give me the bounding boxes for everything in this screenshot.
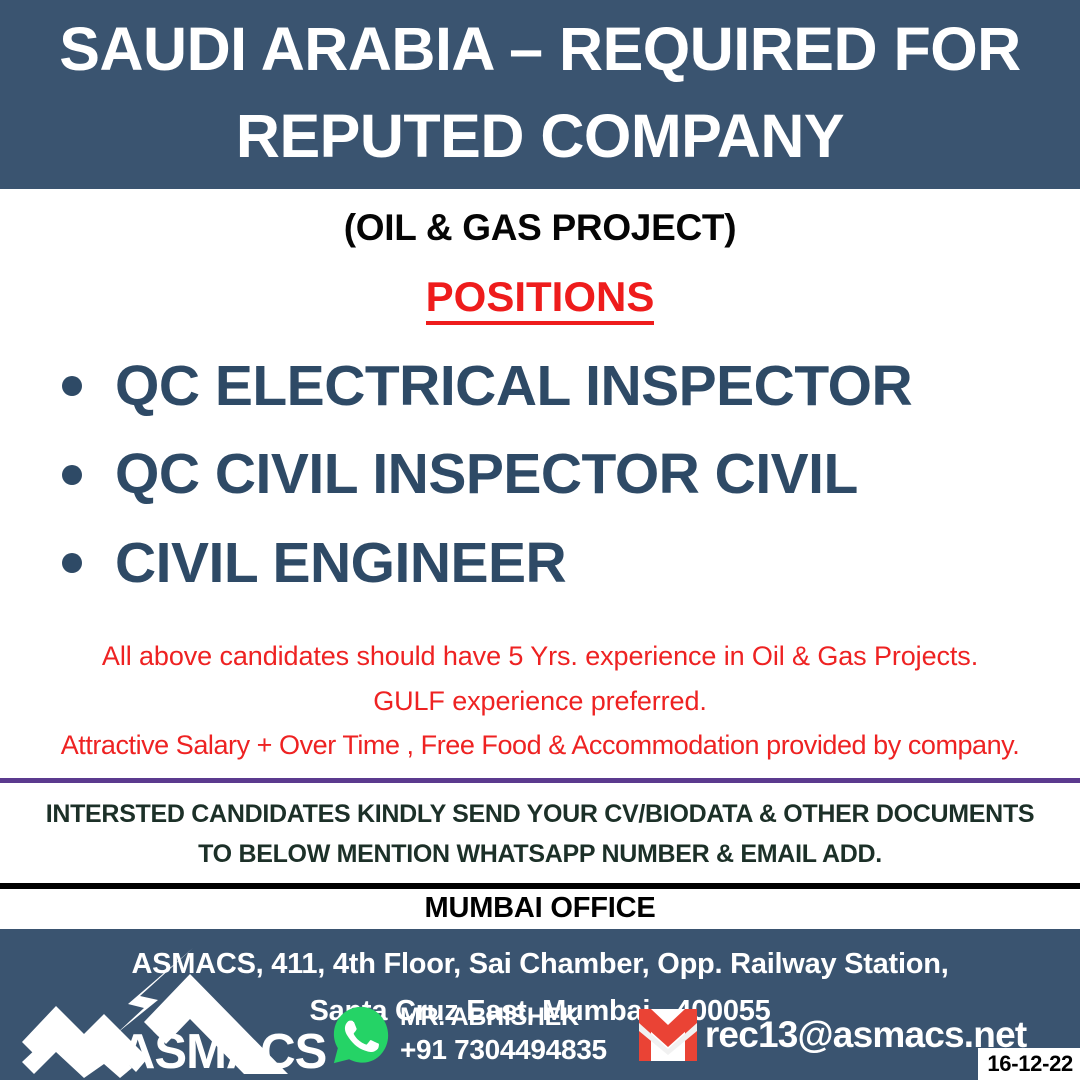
whatsapp-contact[interactable]: MR. ABHISHEK +91 7304494835 — [330, 1003, 607, 1066]
positions-heading-container: POSITIONS — [0, 253, 1080, 331]
bullet-icon — [62, 553, 82, 573]
date-badge: 16-12-22 — [978, 1048, 1080, 1080]
list-item: CIVIL ENGINEER — [0, 534, 1080, 592]
note-line-experience: All above candidates should have 5 Yrs. … — [0, 634, 1080, 679]
list-item: QC CIVIL INSPECTOR CIVIL — [0, 445, 1080, 503]
application-instructions: INTERSTED CANDIDATES KINDLY SEND YOUR CV… — [0, 783, 1080, 883]
position-label: QC CIVIL INSPECTOR CIVIL — [115, 445, 858, 503]
positions-list: QC ELECTRICAL INSPECTOR QC CIVIL INSPECT… — [0, 331, 1080, 621]
position-label: QC ELECTRICAL INSPECTOR — [115, 357, 912, 415]
bullet-icon — [62, 376, 82, 396]
gmail-icon[interactable] — [635, 1005, 701, 1065]
project-subtitle: (OIL & GAS PROJECT) — [0, 189, 1080, 253]
note-line-benefits: Attractive Salary + Over Time , Free Foo… — [0, 723, 1080, 768]
positions-heading: POSITIONS — [426, 275, 655, 325]
note-line-gulf: GULF experience preferred. — [0, 679, 1080, 724]
asmacs-logo: ASMACS — [8, 946, 328, 1078]
office-title: MUMBAI OFFICE — [0, 889, 1080, 929]
job-advertisement-poster: SAUDI ARABIA – REQUIRED FOR REPUTED COMP… — [0, 0, 1080, 1080]
contact-phone-number[interactable]: +91 7304494835 — [400, 1033, 607, 1066]
position-label: CIVIL ENGINEER — [115, 534, 566, 592]
list-item: QC ELECTRICAL INSPECTOR — [0, 357, 1080, 415]
bullet-icon — [62, 465, 82, 485]
email-contact[interactable]: rec13@asmacs.net — [635, 1005, 1027, 1065]
brand-name: ASMACS — [120, 1028, 326, 1077]
instruction-line-send-cv: INTERSTED CANDIDATES KINDLY SEND YOUR CV… — [0, 795, 1080, 835]
whatsapp-icon[interactable] — [330, 1004, 392, 1066]
whatsapp-text-block: MR. ABHISHEK +91 7304494835 — [400, 1003, 607, 1066]
instruction-line-contact-below: TO BELOW MENTION WHATSAPP NUMBER & EMAIL… — [0, 835, 1080, 875]
requirements-notes: All above candidates should have 5 Yrs. … — [0, 622, 1080, 768]
footer-band: ASMACS, 411, 4th Floor, Sai Chamber, Opp… — [0, 929, 1080, 1080]
header-band: SAUDI ARABIA – REQUIRED FOR REPUTED COMP… — [0, 0, 1080, 189]
page-title: SAUDI ARABIA – REQUIRED FOR REPUTED COMP… — [0, 6, 1080, 179]
contacts-row: MR. ABHISHEK +91 7304494835 rec13@asmacs… — [330, 1003, 1026, 1066]
contact-person-name: MR. ABHISHEK — [400, 1003, 607, 1033]
